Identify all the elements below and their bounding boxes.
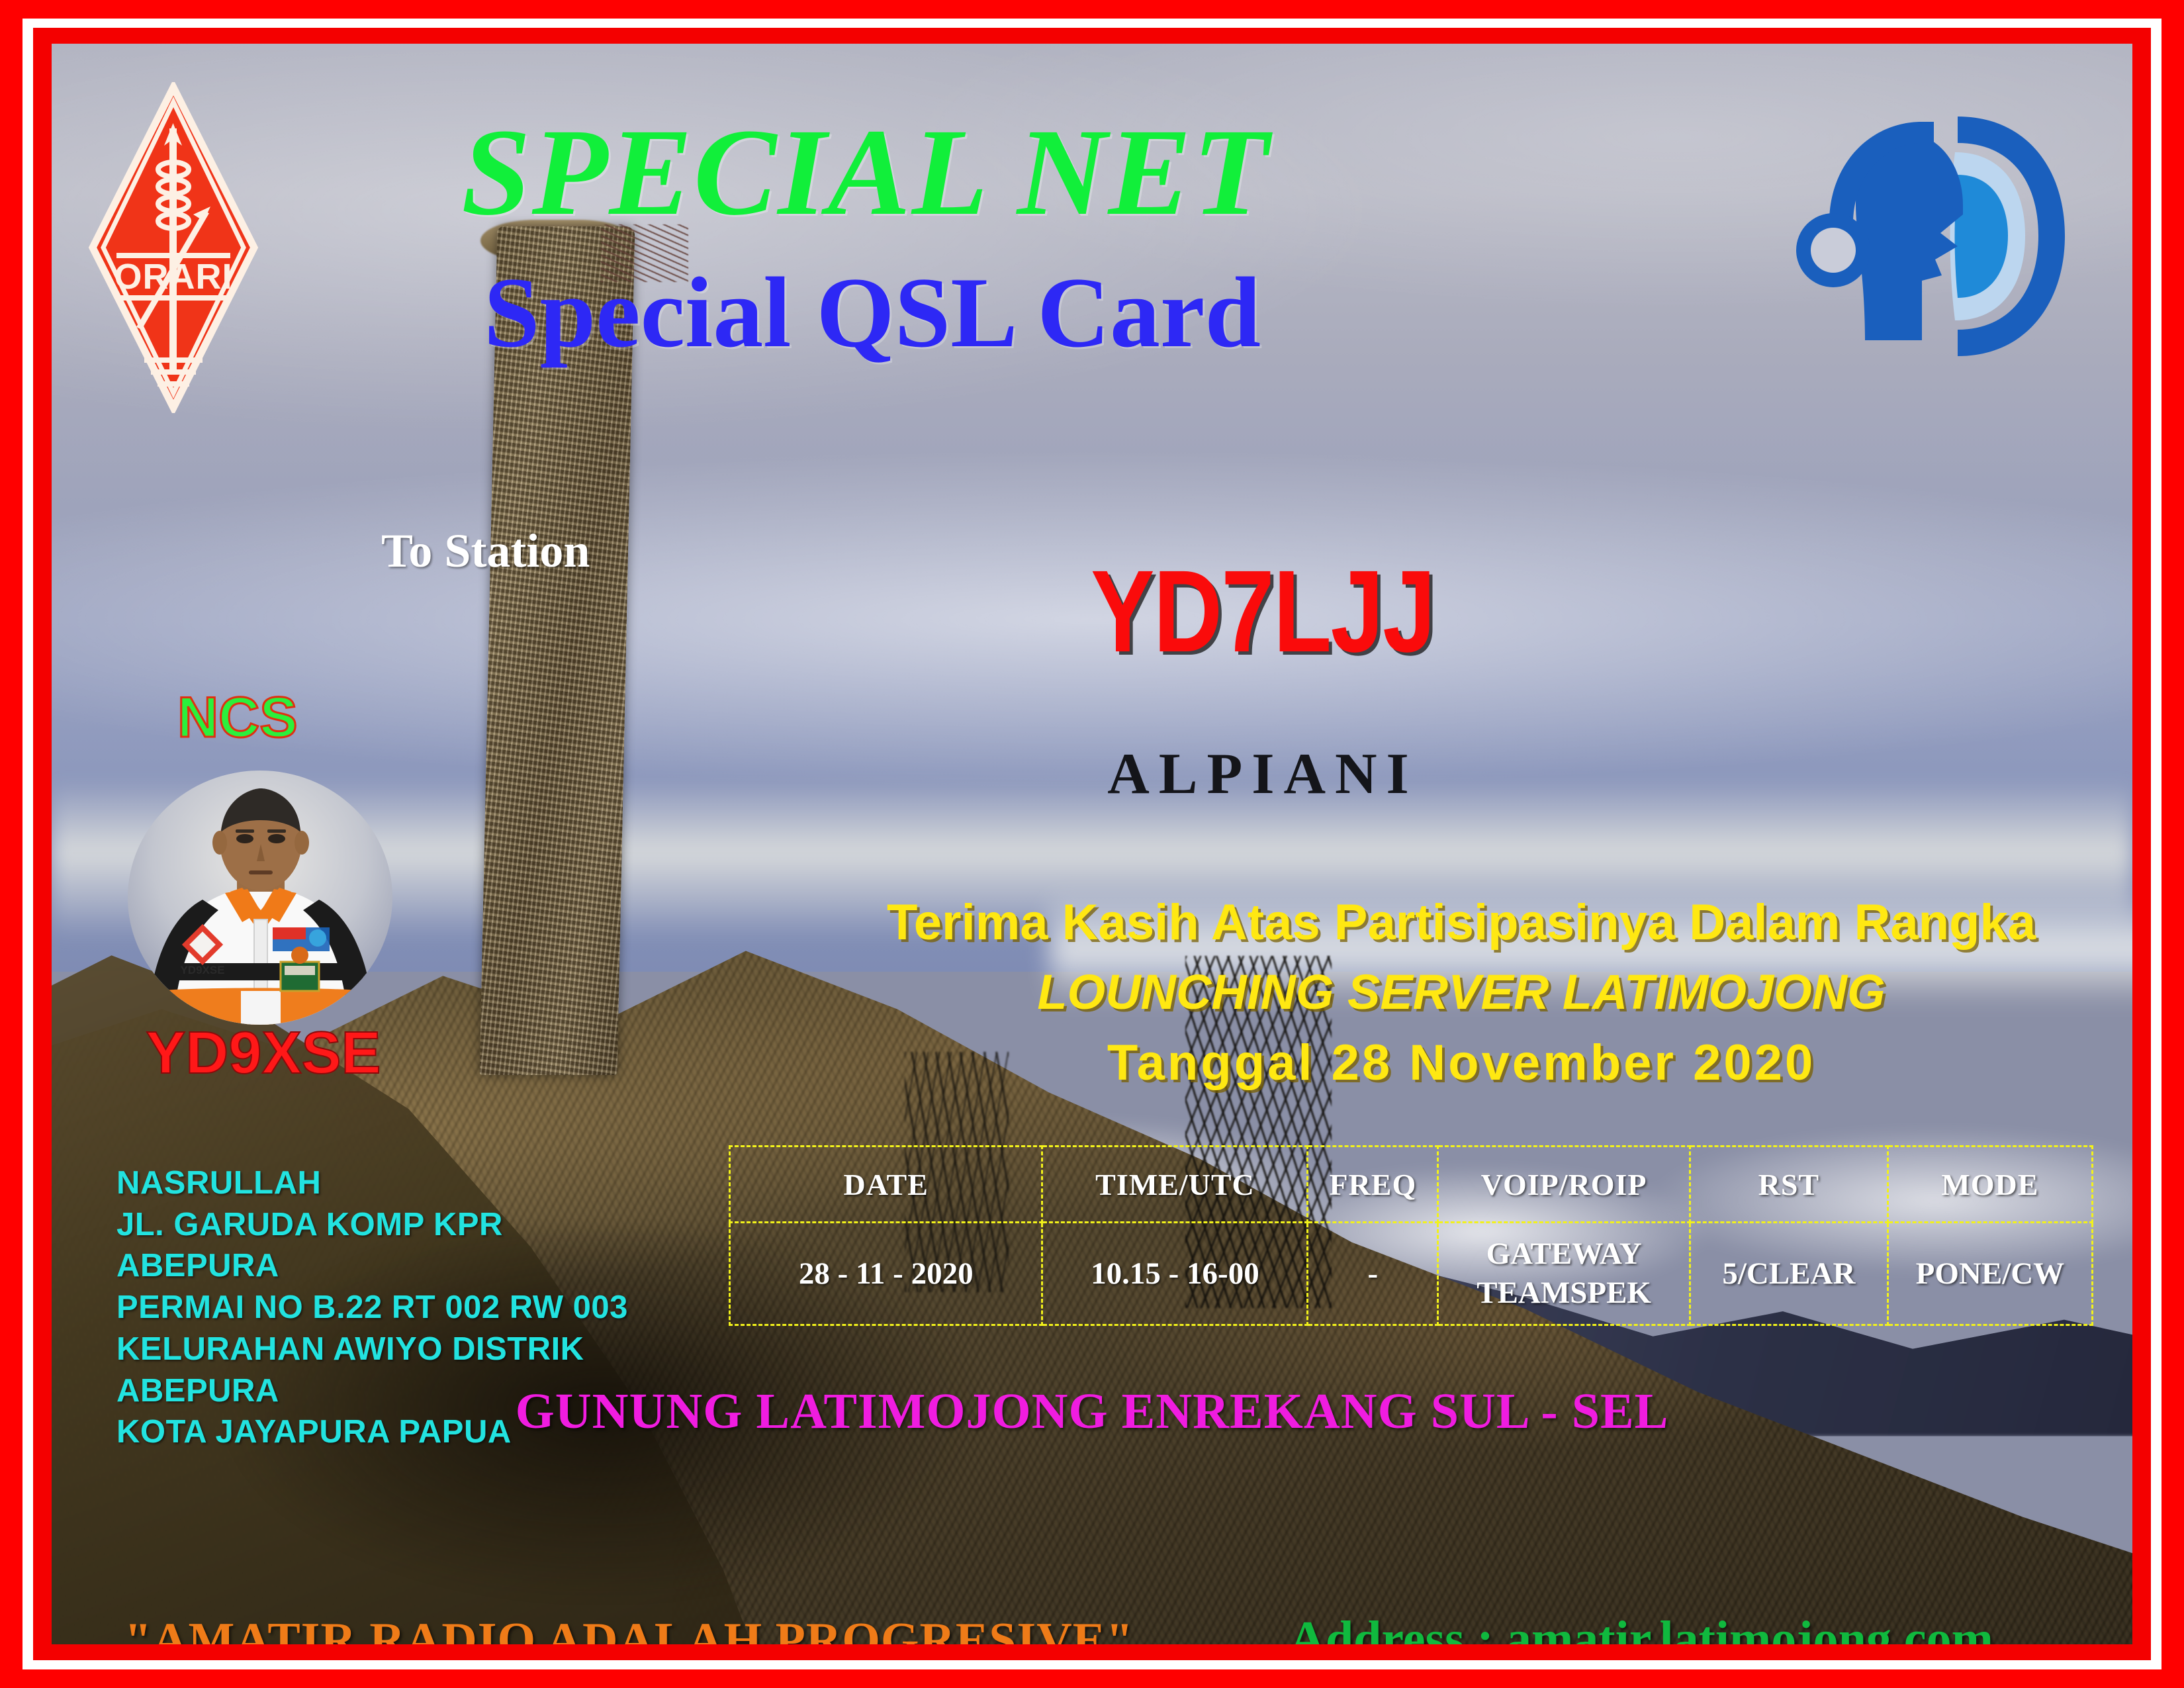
event-date-line: Tanggal 28 November 2020 <box>760 1038 2132 1088</box>
cell-voip-line1: GATEWAY <box>1439 1235 1689 1274</box>
address-line: KELURAHAN AWIYO DISTRIK <box>116 1329 666 1370</box>
column-header-freq: FREQ <box>1308 1147 1438 1223</box>
operator-name: ALPIANI <box>932 745 1594 804</box>
ncs-callsign: YD9XSE <box>124 1023 402 1083</box>
cell-rst: 5/CLEAR <box>1690 1223 1888 1325</box>
column-header-rst: RST <box>1690 1147 1888 1223</box>
footer-slogan: "AMATIR RADIO ADALAH PROGRESIVE" <box>124 1616 1134 1644</box>
cell-time: 10.15 - 16-00 <box>1042 1223 1308 1325</box>
ncs-operator-photo: YD9XSE <box>124 769 396 1027</box>
address-line: NASRULLAH <box>116 1162 666 1204</box>
column-header-voip: VOIP/ROIP <box>1438 1147 1690 1223</box>
headset-soundwave-logo <box>1792 103 2070 368</box>
address-line: PERMAI NO B.22 RT 002 RW 003 <box>116 1287 666 1329</box>
content-overlay: ORARI <box>52 44 2132 1644</box>
card-photo-stage: ORARI <box>52 44 2132 1644</box>
event-thanks-line: Terima Kasih Atas Partisipasinya Dalam R… <box>760 898 2132 948</box>
cell-voip-line2: TEAMSPEK <box>1439 1274 1689 1313</box>
page-subtitle: Special QSL Card <box>52 262 1693 363</box>
cell-mode: PONE/CW <box>1888 1223 2092 1325</box>
ncs-label: NCS <box>177 689 298 746</box>
column-header-time: TIME/UTC <box>1042 1147 1308 1223</box>
svg-text:YD9XSE: YD9XSE <box>180 964 224 976</box>
to-station-label: To Station <box>381 527 590 575</box>
event-title-line: LOUNCHING SERVER LATIMOJONG <box>760 968 2132 1017</box>
qsl-card: ORARI <box>0 0 2184 1688</box>
cell-date: 28 - 11 - 2020 <box>730 1223 1042 1325</box>
column-header-mode: MODE <box>1888 1147 2092 1223</box>
cell-voip: GATEWAY TEAMSPEK <box>1438 1223 1690 1325</box>
qso-table: DATE TIME/UTC FREQ VOIP/ROIP RST MODE 28… <box>729 1145 2093 1326</box>
table-header-row: DATE TIME/UTC FREQ VOIP/ROIP RST MODE <box>730 1147 2093 1223</box>
station-callsign: YD7LJJ <box>991 553 1534 670</box>
page-title: SPECIAL NET <box>52 110 1680 234</box>
footer-web-address: Address : amatir.latimojong.com <box>1289 1614 1993 1644</box>
address-line: ABEPURA <box>116 1245 666 1287</box>
table-row: 28 - 11 - 2020 10.15 - 16-00 - GATEWAY T… <box>730 1223 2093 1325</box>
column-header-date: DATE <box>730 1147 1042 1223</box>
cell-freq: - <box>1308 1223 1438 1325</box>
address-line: JL. GARUDA KOMP KPR <box>116 1204 666 1246</box>
location-caption: GUNUNG LATIMOJONG ENREKANG SUL - SEL <box>52 1386 2132 1436</box>
event-message: Terima Kasih Atas Partisipasinya Dalam R… <box>760 898 2132 1088</box>
